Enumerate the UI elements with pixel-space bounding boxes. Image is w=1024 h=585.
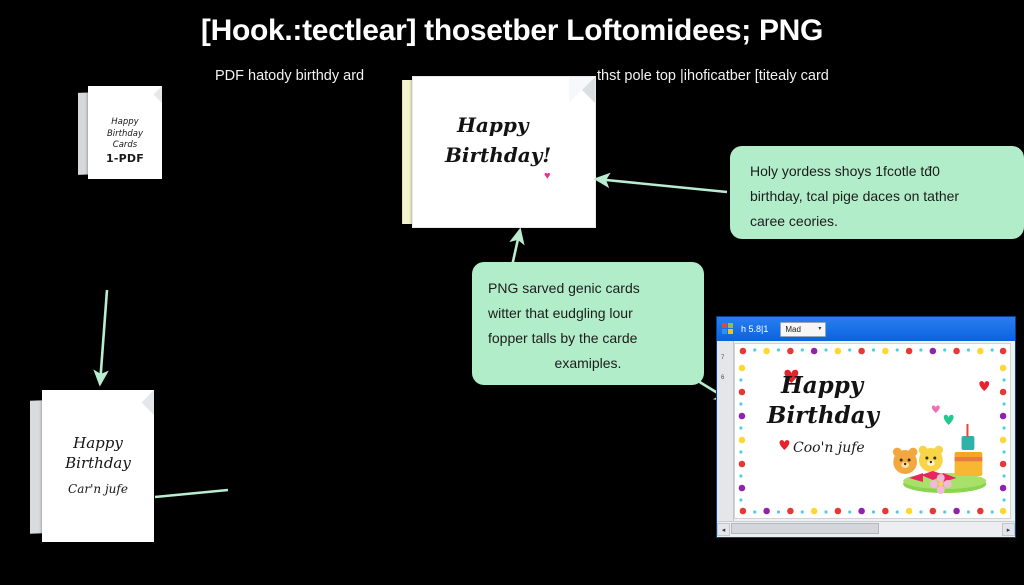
ruler-tick: 7 xyxy=(721,355,724,361)
inner-card-line3: Coo'n jufe xyxy=(793,440,865,456)
callout-right-line2: birthday, tcal pige daces on tather xyxy=(750,184,1004,209)
arrow-down-left xyxy=(100,290,107,384)
ruler-tick: 6 xyxy=(721,375,724,381)
pdf-card[interactable]: Happy Birthday Cards 1-PDF xyxy=(88,86,162,179)
app-logo-icon xyxy=(722,323,735,336)
slide-canvas: [Hook.:tectlear] thosetber Loftomidees; … xyxy=(0,0,1024,585)
callout-right: Holy yordess shoys 1fcotle tđ0 birthday,… xyxy=(730,146,1024,239)
pdf-card-line2: Birthday xyxy=(88,129,162,141)
callout-right-line1: Holy yordess shoys 1fcotle tđ0 xyxy=(750,159,1004,184)
inner-card-line1: Happy xyxy=(781,372,863,399)
toolbar-dropdown-label: Mad xyxy=(785,325,801,334)
page-title: [Hook.:tectlear] thosetber Loftomidees; … xyxy=(0,14,1024,48)
callout-center-line1: PNG sarved genic cards xyxy=(488,276,688,301)
bottom-card-line1: Happy xyxy=(42,434,154,452)
bottom-card-line3: Car'n jufe xyxy=(42,482,154,496)
arrow-right-callout-to-card xyxy=(596,179,727,192)
inner-card-line2: Birthday xyxy=(767,402,879,429)
inner-card-art xyxy=(735,344,1010,518)
scroll-right-arrow-icon[interactable]: ▸ xyxy=(1002,523,1015,536)
page-fold-shade-icon xyxy=(569,77,595,103)
callout-center-line2: witter that eudgling lour xyxy=(488,301,688,326)
toolbar-dropdown[interactable]: Mad ▾ xyxy=(780,322,826,337)
document-canvas[interactable]: Happy Birthday Coo'n jufe xyxy=(734,343,1011,519)
heart-icon: ♥ xyxy=(544,171,551,182)
page-fold-shade-icon xyxy=(145,86,162,103)
main-card-line2: Birthday! xyxy=(445,143,551,167)
main-birthday-card[interactable]: Happy Birthday! ♥ xyxy=(412,76,596,228)
card-editor-window[interactable]: h 5.8|1 Mad ▾ 7 6 xyxy=(716,316,1016,538)
scroll-left-arrow-icon[interactable]: ◂ xyxy=(717,523,730,536)
horizontal-scrollbar[interactable]: ◂ ▸ xyxy=(717,521,1015,537)
callout-center: PNG sarved genic cards witter that eudgl… xyxy=(472,262,704,385)
subtitle-left: PDF hatody birthdy ard xyxy=(215,68,364,84)
pdf-card-text: Happy Birthday Cards xyxy=(88,117,162,152)
app-toolbar: h 5.8|1 Mad ▾ xyxy=(717,317,1015,341)
bottom-card-line2: Birthday xyxy=(42,454,154,472)
pdf-card-line1: Happy xyxy=(88,117,162,129)
app-title: h 5.8|1 xyxy=(741,324,768,334)
scroll-thumb[interactable] xyxy=(731,523,879,534)
scroll-track[interactable] xyxy=(730,523,1002,536)
chevron-down-icon: ▾ xyxy=(818,326,821,332)
page-fold-shade-icon xyxy=(129,390,154,415)
bottom-left-birthday-card[interactable]: Happy Birthday Car'n jufe xyxy=(42,390,154,542)
arrow-center-callout-to-card xyxy=(512,230,520,266)
main-card-line1: Happy xyxy=(457,113,528,137)
callout-center-line3: fopper talls by the carde xyxy=(488,326,688,351)
callout-center-line4: examiples. xyxy=(488,351,688,376)
inner-birthday-card: Happy Birthday Coo'n jufe xyxy=(735,344,1010,518)
connector-line-bottom xyxy=(155,490,228,497)
subtitle-right: thst pole top |ihoficatber [titealy card xyxy=(597,68,829,84)
pdf-card-count: 1-PDF xyxy=(88,153,162,165)
pdf-card-line3: Cards xyxy=(88,140,162,152)
callout-right-line3: caree ceories. xyxy=(750,209,1004,234)
vertical-ruler: 7 6 xyxy=(717,341,734,521)
